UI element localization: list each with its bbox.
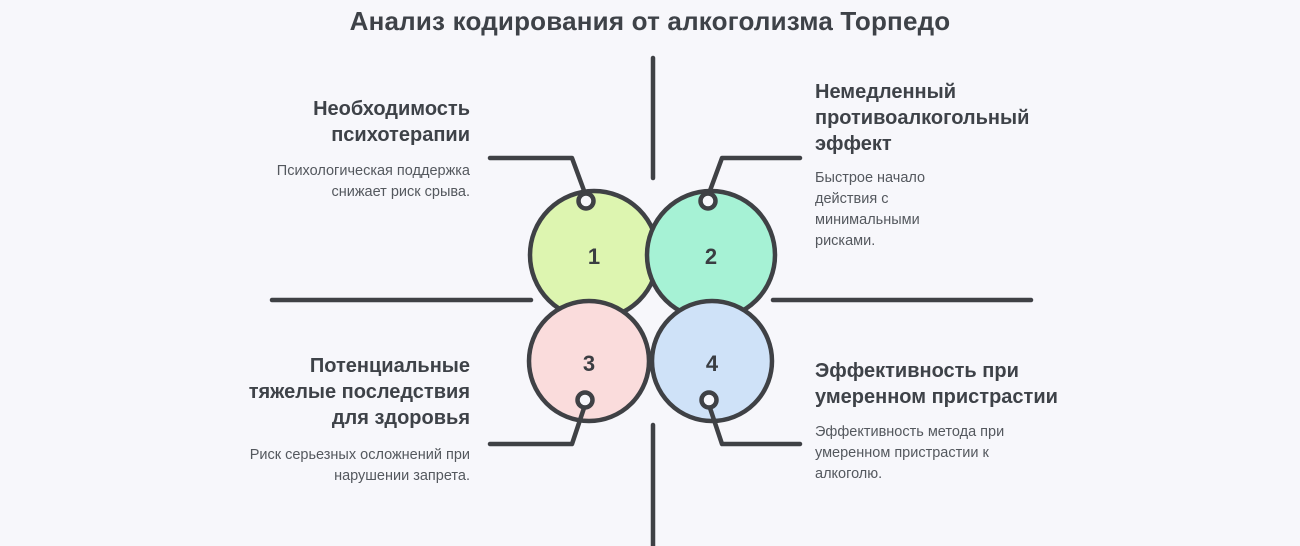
quadrant-2-title: Немедленный противоалкогольный эффект xyxy=(815,79,1065,157)
quadrant-bottom-right: Эффективность при умеренном пристрастии … xyxy=(815,358,1065,485)
quadrant-4-body: Эффективность метода при умеренном прист… xyxy=(815,422,1015,485)
quadrant-3-body: Риск серьезных осложнений при нарушении … xyxy=(220,445,470,487)
quadrant-1-title: Необходимость психотерапии xyxy=(220,96,470,148)
quadrant-3-title: Потенциальные тяжелые последствия для зд… xyxy=(220,353,470,431)
quadrant-4-title: Эффективность при умеренном пристрастии xyxy=(815,358,1065,410)
leader-node-4 xyxy=(702,393,717,408)
leader-node-2 xyxy=(701,194,716,209)
leader-node-1 xyxy=(579,194,594,209)
leader-node-3 xyxy=(578,393,593,408)
circle-number-2: 2 xyxy=(691,244,731,270)
circle-number-4: 4 xyxy=(692,351,732,377)
quadrant-top-left: Необходимость психотерапии Психологическ… xyxy=(220,96,470,203)
quadrant-1-body: Психологическая поддержка снижает риск с… xyxy=(220,161,470,203)
circle-number-3: 3 xyxy=(569,351,609,377)
circle-number-1: 1 xyxy=(574,244,614,270)
infographic-canvas: Анализ кодирования от алкоголизма Торпед… xyxy=(0,0,1300,546)
quadrant-bottom-left: Потенциальные тяжелые последствия для зд… xyxy=(220,353,470,487)
quadrant-2-body: Быстрое начало действия с минимальными р… xyxy=(815,168,955,252)
venn-diagram-graphic xyxy=(0,0,1300,546)
quadrant-top-right: Немедленный противоалкогольный эффект Бы… xyxy=(815,79,1065,252)
leader-line-1 xyxy=(490,158,586,196)
